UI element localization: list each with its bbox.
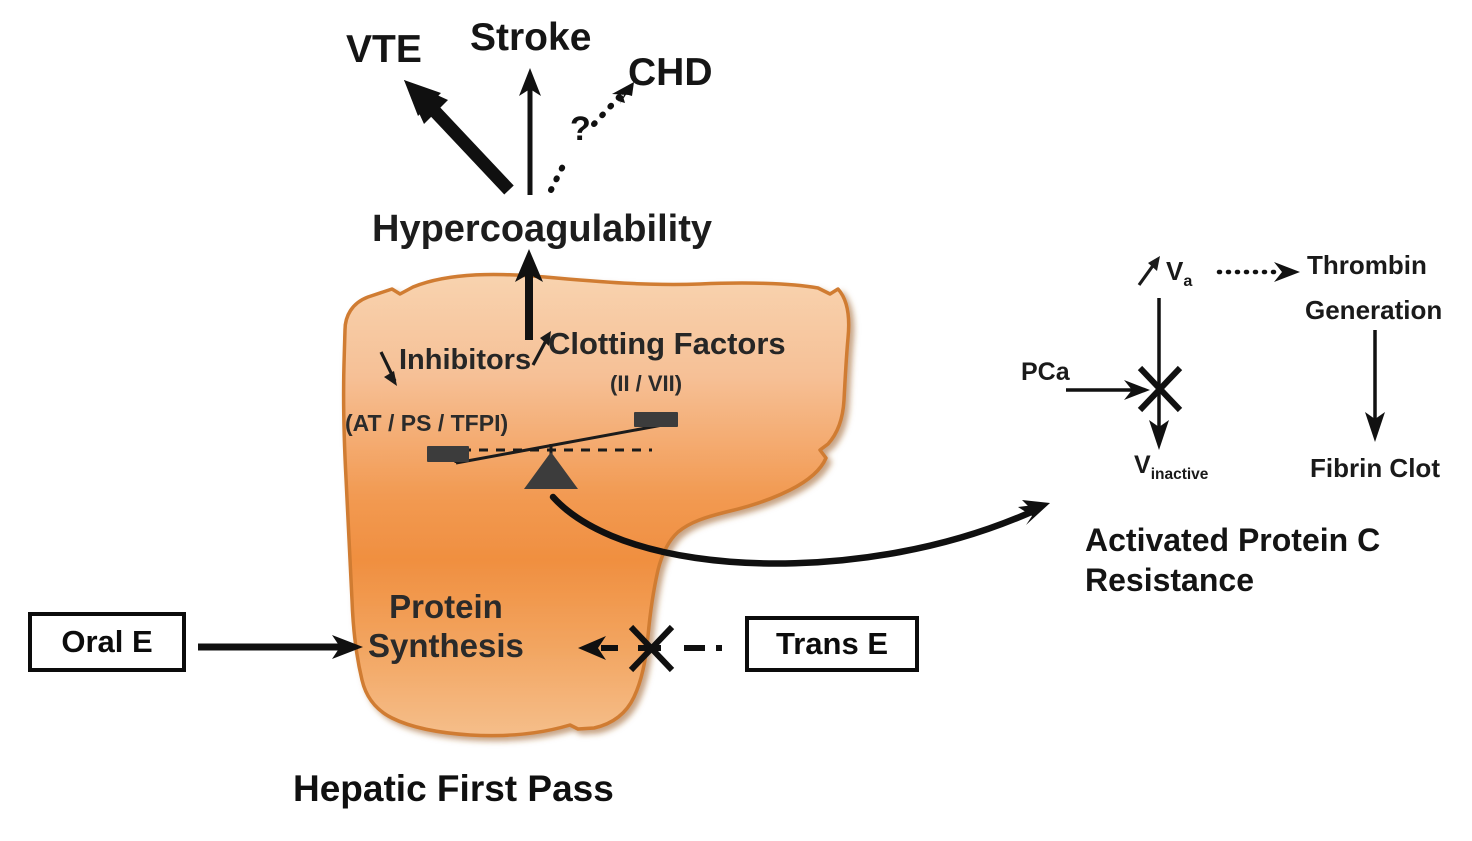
label-activated-protein-c-resistance: Activated Protein C Resistance — [1085, 520, 1380, 600]
label-factor-va-symbol: V — [1166, 256, 1183, 286]
arrow-oral-e-to-protein-synthesis — [198, 635, 363, 659]
label-inhibitors: Inhibitors — [399, 345, 531, 375]
dotted-arrow-va-to-thrombin — [1219, 262, 1300, 282]
box-oral-estrogen-label: Oral E — [61, 624, 152, 660]
label-clotting-factors: Clotting Factors — [548, 328, 786, 361]
up-arrow-va — [1139, 256, 1160, 285]
label-factor-v-inactive-symbol: V — [1134, 451, 1151, 479]
arrow-to-vte — [404, 80, 509, 190]
box-transdermal-estrogen[interactable]: Trans E — [745, 616, 919, 672]
label-apcr-line1: Activated Protein C — [1085, 520, 1380, 560]
arrow-to-stroke — [519, 68, 541, 195]
box-transdermal-estrogen-label: Trans E — [776, 626, 888, 662]
label-protein-synthesis-line2: Synthesis — [368, 627, 524, 666]
weight-inhibitors — [427, 446, 469, 462]
label-fibrin-clot: Fibrin Clot — [1310, 455, 1440, 482]
label-protein-synthesis-line1: Protein — [368, 588, 524, 627]
label-factor-v-inactive-subscript: inactive — [1151, 466, 1209, 483]
label-clotting-factors-sub: (II / VII) — [610, 372, 682, 395]
arrow-to-chd-dotted — [551, 82, 634, 190]
label-vte: VTE — [346, 30, 422, 71]
diagram-canvas: VTE Stroke CHD ? Hypercoagulability Clot… — [0, 0, 1472, 841]
label-factor-v-inactive: Vinactive — [1134, 452, 1208, 483]
arrow-va-to-vinactive — [1149, 298, 1169, 450]
label-inhibitors-sub: (AT / PS / TFPI) — [345, 411, 508, 435]
label-stroke: Stroke — [470, 18, 591, 59]
label-generation: Generation — [1305, 297, 1442, 324]
label-pca: PCa — [1021, 359, 1070, 385]
label-hepatic-first-pass: Hepatic First Pass — [293, 770, 614, 809]
label-hypercoagulability: Hypercoagulability — [372, 210, 712, 250]
weight-clotting-factors — [634, 412, 678, 427]
label-protein-synthesis: Protein Synthesis — [368, 588, 524, 666]
label-thrombin: Thrombin — [1307, 252, 1427, 279]
label-apcr-line2: Resistance — [1085, 560, 1380, 600]
label-question-mark: ? — [570, 112, 591, 148]
label-chd: CHD — [628, 53, 713, 94]
arrow-pca-to-block — [1066, 368, 1180, 410]
label-factor-va-subscript: a — [1183, 272, 1192, 290]
arrow-thrombin-to-fibrin — [1365, 330, 1385, 442]
box-oral-estrogen[interactable]: Oral E — [28, 612, 186, 672]
label-factor-va: Va — [1166, 258, 1192, 290]
diagram-graphics-layer — [0, 0, 1472, 841]
